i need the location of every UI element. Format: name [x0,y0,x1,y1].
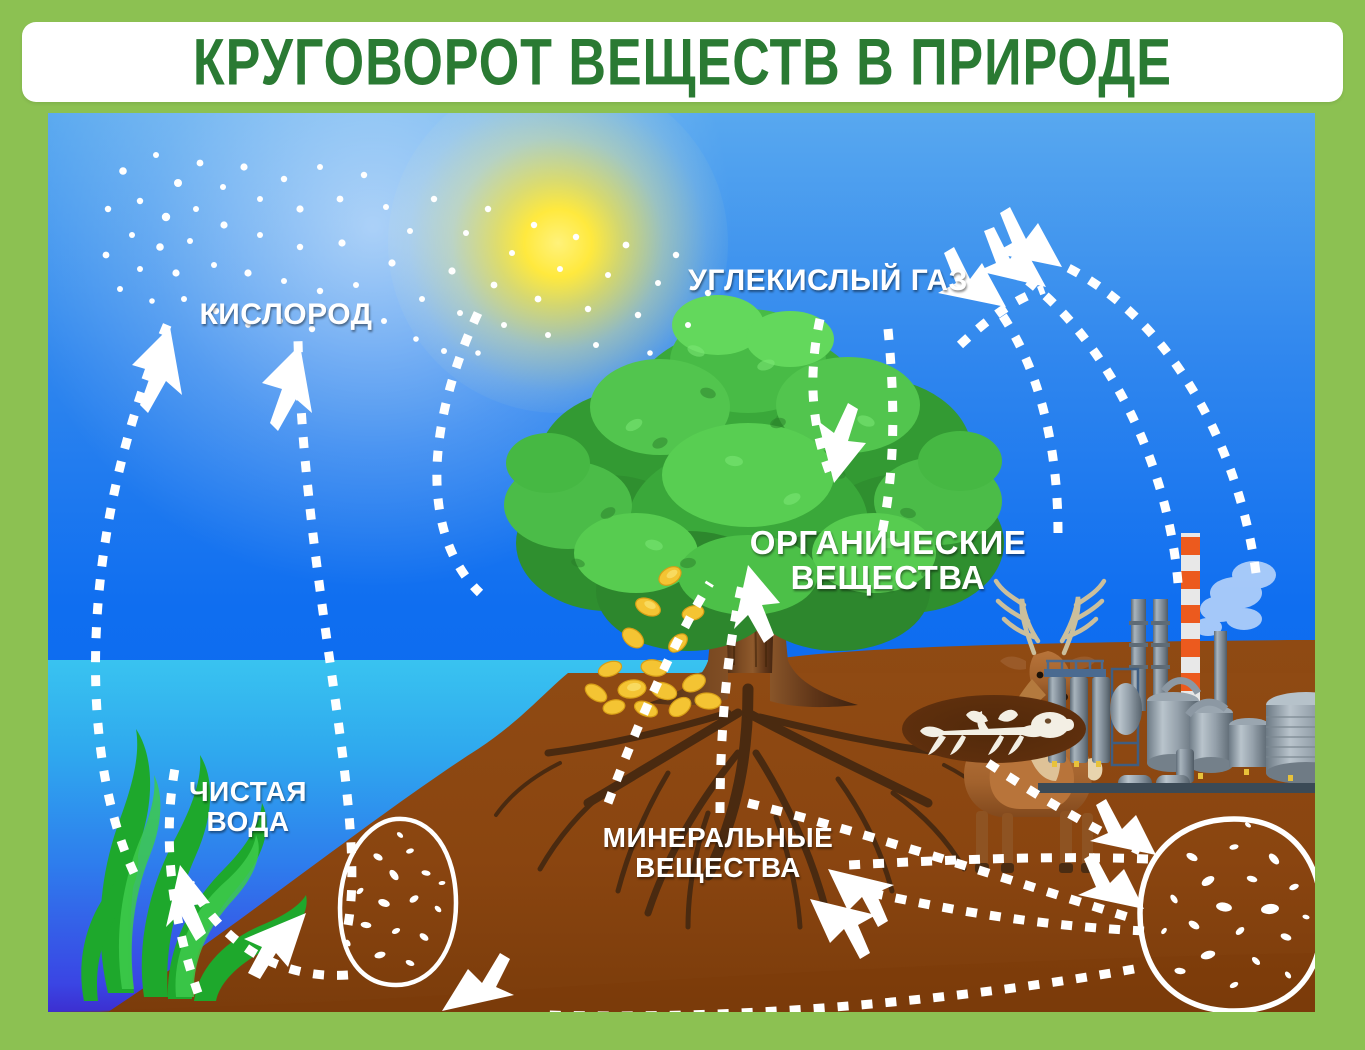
falling-leaves-icon [48,113,1315,1012]
flow-algae-to-clean-water [190,883,348,975]
flow-arrows-layer [48,113,1315,1012]
poster-root: КРУГОВОРОТ ВЕЩЕСТВ В ПРИРОДЕ [0,0,1365,1050]
label-carbon-dioxide: УГЛЕКИСЛЫЙ ГАЗ [648,265,1008,297]
flow-minerals-to-tree [720,585,742,813]
sun-icon [388,113,728,413]
flow-water-to-oxygen [96,323,168,873]
soil-layer [48,113,1315,1012]
label-clean-water: ЧИСТАЯ ВОДА [143,777,353,837]
seaweed-icon [48,113,1315,1012]
flow-bacteria-to-minerals-a [848,858,1148,865]
flow-factory-to-co2 [1028,281,1178,583]
title-banner: КРУГОВОРОТ ВЕЩЕСТВ В ПРИРОДЕ [22,22,1343,102]
bacteria-circle-icon [1140,819,1315,1011]
diagram-scene: КИСЛОРОД УГЛЕКИСЛЫЙ ГАЗ ОРГАНИЧЕСКИЕ ВЕЩ… [48,113,1315,1012]
oxygen-dots-icon [48,113,1315,1012]
bones-icon [48,113,1315,1012]
factory-icon [48,113,1315,1012]
water-body [48,660,1315,1012]
algae-circle-icon [340,819,456,985]
flow-bacteria-to-algae [548,969,1134,1012]
flow-leaves-to-tree [608,583,710,803]
flow-tree-to-co2 [960,289,1044,345]
flow-sun-arc [437,313,480,593]
flow-algae-to-oxygen [298,341,352,925]
microbe-circles [48,113,1315,1012]
deer-icon [48,113,1315,1012]
flow-soil-to-bacteria [748,803,1134,919]
flow-bacteria-to-minerals-b [854,889,1144,931]
label-organic-substances: ОРГАНИЧЕСКИЕ ВЕЩЕСТВА [688,525,1088,596]
arrowheads [132,207,1156,1011]
tree-icon [48,113,1315,1012]
label-mineral-substances: МИНЕРАЛЬНЫЕ ВЕЩЕСТВА [568,823,868,883]
flow-co2-into-tree-b [882,329,893,533]
flow-water-rise [169,763,198,993]
label-oxygen: КИСЛОРОД [166,299,406,331]
sky-glow [48,113,768,653]
flow-deer-to-co2 [998,309,1058,533]
page-title: КРУГОВОРОТ ВЕЩЕСТВ В ПРИРОДЕ [193,29,1172,95]
flow-smoke-to-co2 [1058,263,1256,573]
flow-remains-to-bacteria [988,763,1140,851]
flow-co2-into-tree-a [813,319,832,479]
